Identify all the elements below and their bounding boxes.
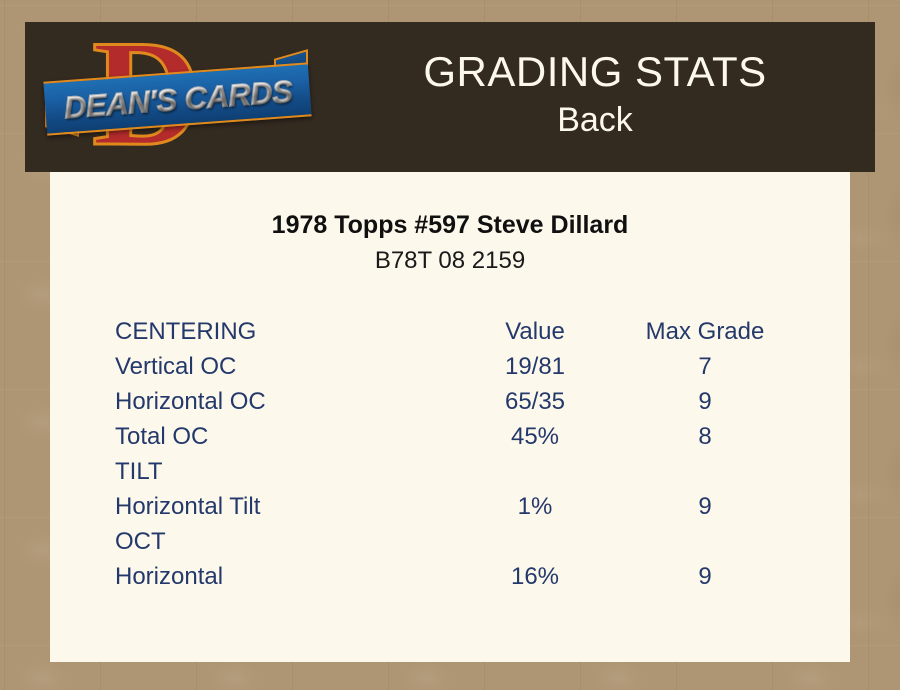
grading-stats-table: CENTERINGValueMax GradeVertical OC19/817…: [115, 314, 785, 594]
column-header-value: Value: [445, 314, 625, 349]
card-title: 1978 Topps #597 Steve Dillard: [50, 210, 850, 240]
header-title-group: GRADING STATS Back: [315, 22, 875, 172]
row-value-vertical-oc: 19/81: [445, 349, 625, 384]
row-max-grade-horizontal-oc: 9: [625, 384, 785, 419]
row-max-grade-horizontal: 9: [625, 559, 785, 594]
section-header-row-centering: CENTERINGValueMax Grade: [115, 314, 785, 349]
section-header-row-oct: OCT: [115, 524, 785, 559]
section-label-centering: CENTERING: [115, 314, 445, 349]
section-label-oct: OCT: [115, 524, 445, 559]
section-spacer-grade: [625, 454, 785, 489]
row-label-horizontal-tilt: Horizontal Tilt: [115, 489, 445, 524]
row-value-horizontal-tilt: 1%: [445, 489, 625, 524]
row-max-grade-horizontal-tilt: 9: [625, 489, 785, 524]
column-header-max-grade: Max Grade: [625, 314, 785, 349]
content-panel: 1978 Topps #597 Steve Dillard B78T 08 21…: [50, 172, 850, 662]
row-value-total-oc: 45%: [445, 419, 625, 454]
section-spacer-value: [445, 524, 625, 559]
page-title: GRADING STATS: [423, 47, 766, 97]
row-max-grade-vertical-oc: 7: [625, 349, 785, 384]
row-label-vertical-oc: Vertical OC: [115, 349, 445, 384]
table-row: Vertical OC19/817: [115, 349, 785, 384]
table-row: Horizontal16%9: [115, 559, 785, 594]
deans-cards-logo[interactable]: D DEAN'S CARDS: [45, 26, 310, 168]
row-label-total-oc: Total OC: [115, 419, 445, 454]
table-row: Total OC45%8: [115, 419, 785, 454]
section-header-row-tilt: TILT: [115, 454, 785, 489]
row-label-horizontal: Horizontal: [115, 559, 445, 594]
card-code: B78T 08 2159: [50, 247, 850, 275]
row-max-grade-total-oc: 8: [625, 419, 785, 454]
table-row: Horizontal OC65/359: [115, 384, 785, 419]
page-subtitle: Back: [557, 99, 633, 141]
row-value-horizontal: 16%: [445, 559, 625, 594]
grading-stats-body: CENTERINGValueMax GradeVertical OC19/817…: [115, 314, 785, 594]
section-spacer-grade: [625, 524, 785, 559]
section-spacer-value: [445, 454, 625, 489]
table-row: Horizontal Tilt1%9: [115, 489, 785, 524]
header-bar: D DEAN'S CARDS GRADING STATS Back: [25, 22, 875, 172]
row-label-horizontal-oc: Horizontal OC: [115, 384, 445, 419]
grading-stats-page: D DEAN'S CARDS GRADING STATS Back 1978 T…: [0, 0, 900, 690]
row-value-horizontal-oc: 65/35: [445, 384, 625, 419]
section-label-tilt: TILT: [115, 454, 445, 489]
